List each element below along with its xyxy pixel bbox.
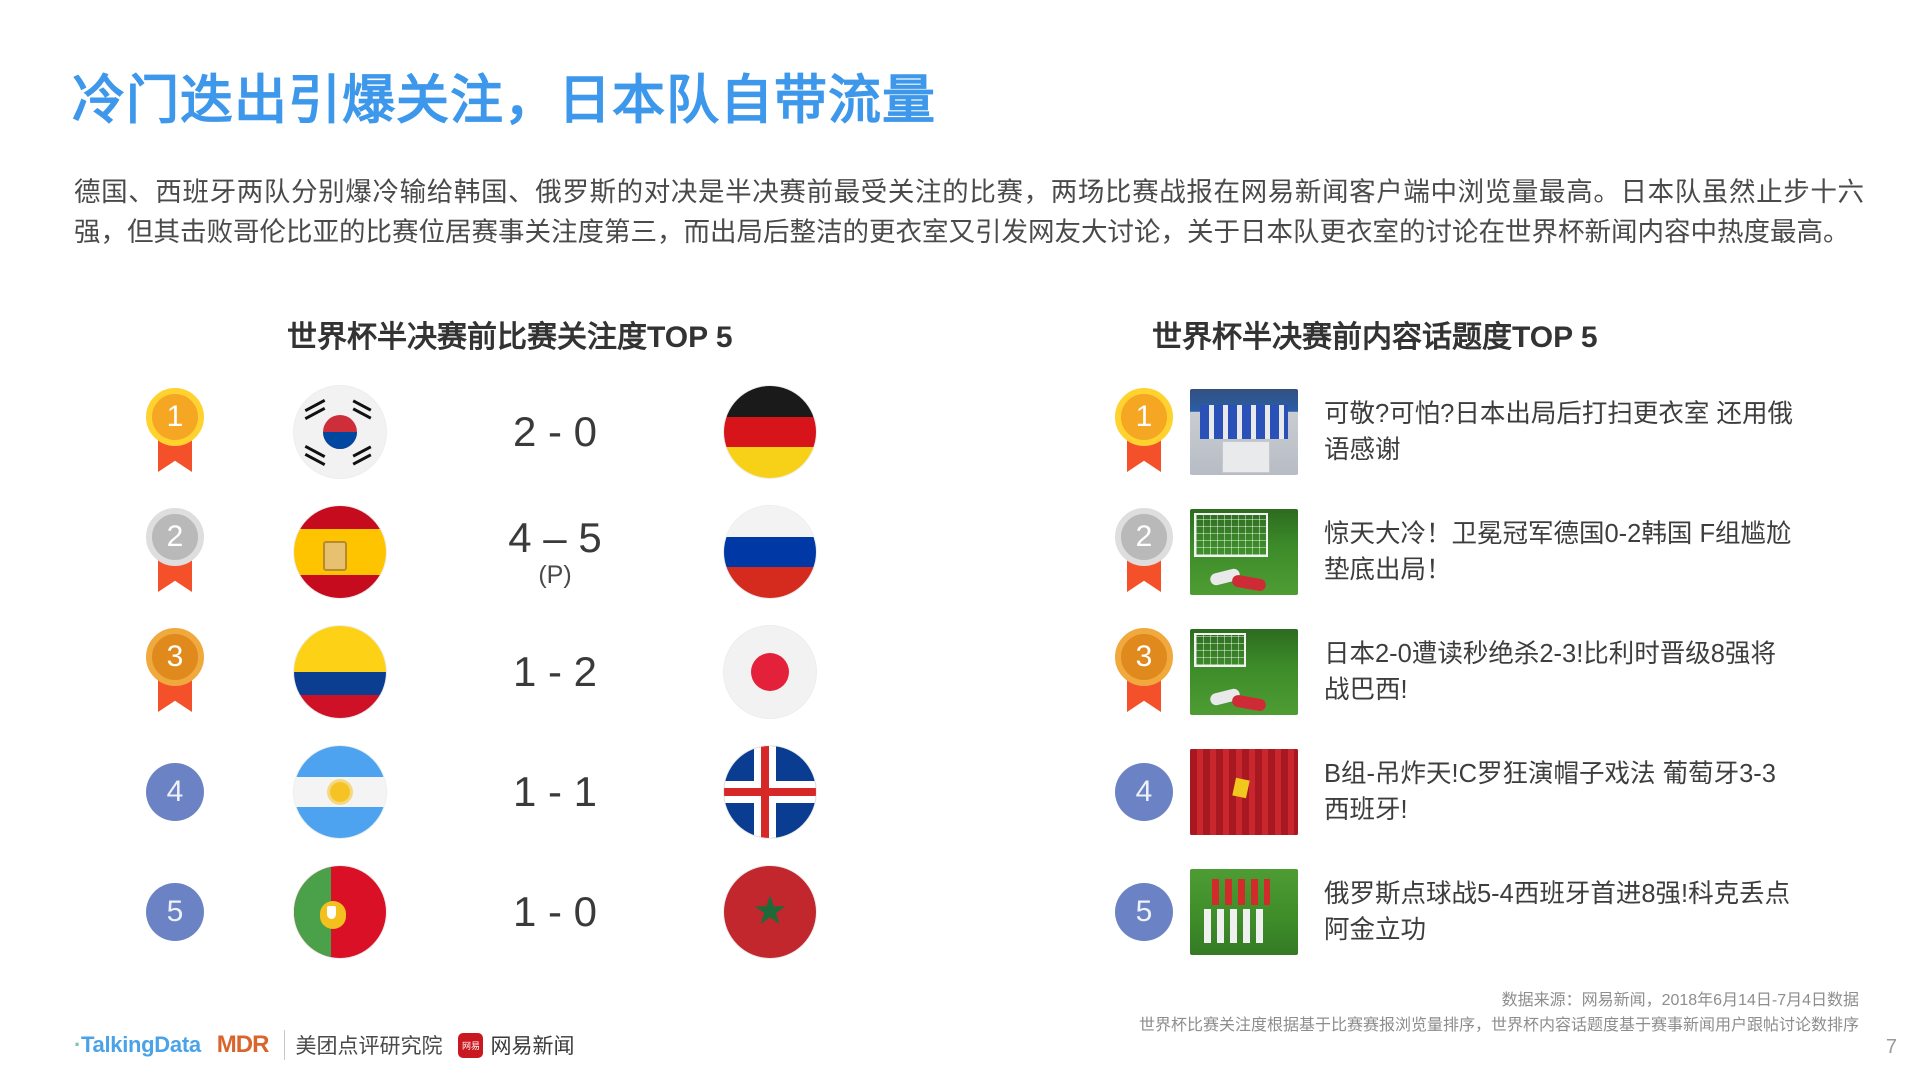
flag-icon-portugal [294, 866, 386, 958]
logo-talkingdata: ·TalkingData [74, 1032, 201, 1058]
news-thumbnail-players-on-pitch [1190, 629, 1298, 715]
page-title: 冷门迭出引爆关注，日本队自带流量 [72, 58, 936, 134]
medal-icon-silver: 2 [146, 508, 204, 596]
rank-cell: 4 [110, 763, 240, 821]
medal-icon-bronze: 3 [146, 628, 204, 716]
rank-cell: 1 [1098, 388, 1190, 476]
flag-icon-colombia [294, 626, 386, 718]
news-headline[interactable]: 惊天大冷！卫冕冠军德国0-2韩国 F组尴尬垫底出局！ [1324, 516, 1794, 588]
rank-cell: 1 [110, 388, 240, 476]
home-flag-cell [240, 746, 440, 838]
rank-cell: 5 [110, 883, 240, 941]
match-score: 1 - 1 [440, 770, 670, 814]
score-value: 4 – 5 [508, 514, 601, 561]
netease-mark-icon: 网易 [458, 1033, 483, 1058]
home-flag-cell [240, 386, 440, 478]
table-row: 4 1 - 1 [110, 732, 940, 852]
list-item: 4 B组-吊炸天!C罗狂演帽子戏法 葡萄牙3-3西班牙! [1098, 732, 1888, 852]
intro-paragraph: 德国、西班牙两队分别爆冷输给韩国、俄罗斯的对决是半决赛前最受关注的比赛，两场比赛… [74, 172, 1864, 252]
score-value: 1 - 1 [513, 768, 597, 815]
home-flag-cell [240, 866, 440, 958]
source-line-2: 世界杯比赛关注度根据基于比赛赛报浏览量排序，世界杯内容话题度基于赛事新闻用户跟帖… [1139, 1013, 1859, 1038]
source-note: 数据来源：网易新闻，2018年6月14日-7月4日数据 世界杯比赛关注度根据基于… [1139, 988, 1859, 1038]
news-thumbnail-penalty-celebration [1190, 869, 1298, 955]
flag-icon-argentina [294, 746, 386, 838]
rank-cell: 2 [110, 508, 240, 596]
section-header-topics: 世界杯半决赛前内容话题度TOP 5 [1152, 312, 1598, 356]
news-thumbnail-red-crowd [1190, 749, 1298, 835]
logo-netease: 网易 网易新闻 [458, 1030, 574, 1060]
section-header-matches: 世界杯半决赛前比赛关注度TOP 5 [287, 312, 733, 356]
rank-number: 3 [146, 628, 204, 686]
page-number: 7 [1886, 1036, 1897, 1059]
list-item: 2 惊天大冷！卫冕冠军德国0-2韩国 F组尴尬垫底出局！ [1098, 492, 1888, 612]
rank-cell: 5 [1098, 883, 1190, 941]
rank-number: 3 [1115, 628, 1173, 686]
list-item: 1 可敬?可怕?日本出局后打扫更衣室 还用俄语感谢 [1098, 372, 1888, 492]
news-headline[interactable]: B组-吊炸天!C罗狂演帽子戏法 葡萄牙3-3西班牙! [1324, 756, 1794, 828]
flag-icon-spain [294, 506, 386, 598]
away-flag-cell [670, 626, 870, 718]
table-row: 1 2 - 0 [110, 372, 940, 492]
medal-icon-silver: 2 [1115, 508, 1173, 596]
logo-talkingdata-text: TalkingData [81, 1032, 201, 1057]
slide-root: 冷门迭出引爆关注，日本队自带流量 德国、西班牙两队分别爆冷输给韩国、俄罗斯的对决… [0, 0, 1921, 1080]
home-flag-cell [240, 626, 440, 718]
rank-number: 5 [1115, 883, 1173, 941]
logo-meituan-research: 美团点评研究院 [284, 1030, 442, 1060]
score-note: (P) [440, 562, 670, 588]
table-row: 5 1 - 0 ★ [110, 852, 940, 972]
news-headline[interactable]: 可敬?可怕?日本出局后打扫更衣室 还用俄语感谢 [1324, 396, 1794, 468]
match-score: 4 – 5 (P) [440, 516, 670, 588]
topic-ranking-list: 1 可敬?可怕?日本出局后打扫更衣室 还用俄语感谢 2 惊天大冷！卫冕冠军德国0… [1098, 372, 1888, 972]
rank-cell: 3 [1098, 628, 1190, 716]
logo-netease-text: 网易新闻 [490, 1030, 574, 1060]
source-line-1: 数据来源：网易新闻，2018年6月14日-7月4日数据 [1139, 988, 1859, 1013]
away-flag-cell [670, 386, 870, 478]
score-value: 2 - 0 [513, 408, 597, 455]
flag-icon-japan [724, 626, 816, 718]
away-flag-cell [670, 746, 870, 838]
table-row: 2 4 – 5 (P) [110, 492, 940, 612]
medal-icon-bronze: 3 [1115, 628, 1173, 716]
away-flag-cell [670, 506, 870, 598]
rank-number: 2 [1115, 508, 1173, 566]
news-headline[interactable]: 俄罗斯点球战5-4西班牙首进8强!科克丢点阿金立功 [1324, 876, 1794, 948]
rank-number: 1 [1115, 388, 1173, 446]
away-flag-cell: ★ [670, 866, 870, 958]
flag-icon-russia [724, 506, 816, 598]
rank-cell: 2 [1098, 508, 1190, 596]
list-item: 3 日本2-0遭读秒绝杀2-3!比利时晋级8强将战巴西! [1098, 612, 1888, 732]
rank-cell: 4 [1098, 763, 1190, 821]
home-flag-cell [240, 506, 440, 598]
list-item: 5 俄罗斯点球战5-4西班牙首进8强!科克丢点阿金立功 [1098, 852, 1888, 972]
logo-mdr-text: MDR [217, 1031, 269, 1058]
flag-icon-iceland [724, 746, 816, 838]
flag-icon-morocco: ★ [724, 866, 816, 958]
news-thumbnail-goalmouth [1190, 509, 1298, 595]
score-value: 1 - 2 [513, 648, 597, 695]
rank-number: 4 [1115, 763, 1173, 821]
news-thumbnail-locker-room [1190, 389, 1298, 475]
medal-icon-gold: 1 [146, 388, 204, 476]
rank-cell: 3 [110, 628, 240, 716]
logo-mdr: MDR [217, 1031, 269, 1059]
table-row: 3 1 - 2 [110, 612, 940, 732]
rank-number: 1 [146, 388, 204, 446]
score-value: 1 - 0 [513, 888, 597, 935]
flag-icon-germany [724, 386, 816, 478]
footer-logos: ·TalkingData MDR 美团点评研究院 网易 网易新闻 [74, 1030, 574, 1060]
match-score: 1 - 0 [440, 890, 670, 934]
news-headline[interactable]: 日本2-0遭读秒绝杀2-3!比利时晋级8强将战巴西! [1324, 636, 1794, 708]
match-score: 2 - 0 [440, 410, 670, 454]
match-ranking-list: 1 2 - 0 [110, 372, 940, 972]
match-score: 1 - 2 [440, 650, 670, 694]
rank-number: 5 [146, 883, 204, 941]
flag-icon-south-korea [294, 386, 386, 478]
medal-icon-gold: 1 [1115, 388, 1173, 476]
rank-number: 4 [146, 763, 204, 821]
rank-number: 2 [146, 508, 204, 566]
